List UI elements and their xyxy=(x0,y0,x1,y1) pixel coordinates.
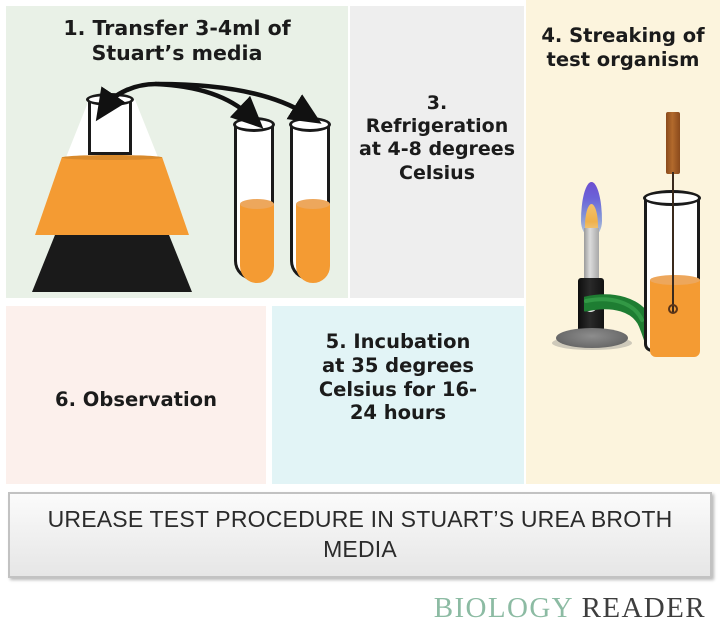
panel-step-6-label: 6. Observation xyxy=(6,388,266,412)
inoculating-loop-wire xyxy=(672,172,674,312)
inoculating-loop-icon xyxy=(660,112,684,318)
panel-step-5-label: 5. Incubation at 35 degrees Celsius for … xyxy=(272,330,524,425)
panel-step-5: 5. Incubation at 35 degrees Celsius for … xyxy=(272,306,524,484)
panel-step-3: 3. Refrigeration at 4-8 degrees Celsius xyxy=(350,6,524,298)
transfer-arrows-icon xyxy=(6,6,354,304)
panel-step-6: 6. Observation xyxy=(6,306,266,484)
infographic-canvas: 1. Transfer 3-4ml of Stuart’s media xyxy=(0,0,720,639)
page-title: UREASE TEST PROCEDURE IN STUART’S UREA B… xyxy=(38,505,683,565)
watermark-brand-second: READER xyxy=(582,592,706,624)
page-title-line-2: MEDIA xyxy=(323,536,397,562)
panel-step-3-label: 3. Refrigeration at 4-8 degrees Celsius xyxy=(350,92,524,185)
watermark-brand-first: BIOLOGY xyxy=(434,592,573,624)
watermark-logo: BIOLOGY READER xyxy=(434,592,706,625)
arrow-into-flask-icon xyxy=(106,84,156,106)
inoculating-loop-handle xyxy=(666,112,680,174)
panel-step-4-label: 4. Streaking of test organism xyxy=(526,24,720,72)
panel-step-1: 1. Transfer 3-4ml of Stuart’s media xyxy=(6,6,348,298)
title-banner: UREASE TEST PROCEDURE IN STUART’S UREA B… xyxy=(8,492,712,578)
inoculating-loop-tip xyxy=(668,304,678,314)
page-title-line-1: UREASE TEST PROCEDURE IN STUART’S UREA B… xyxy=(48,506,673,532)
